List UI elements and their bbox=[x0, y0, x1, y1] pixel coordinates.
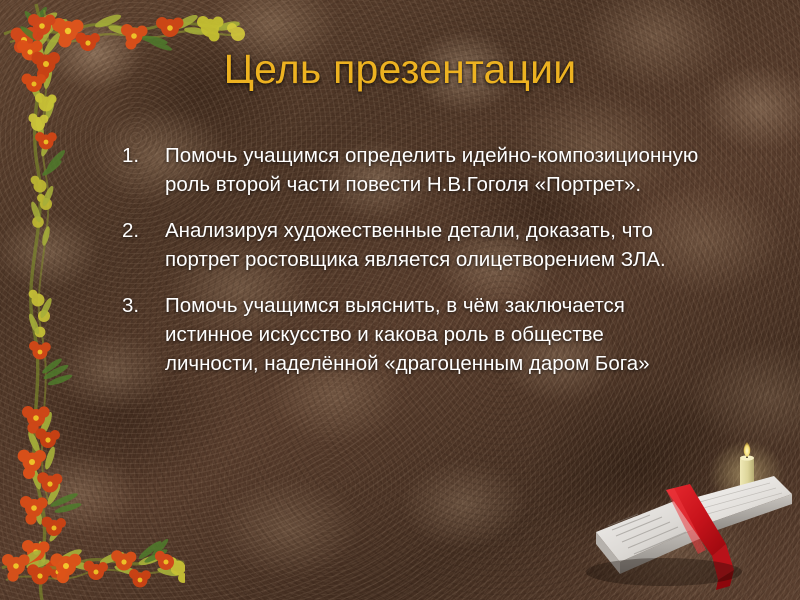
list-item-number: 3. bbox=[122, 291, 165, 320]
list-item-text: Анализируя художественные детали, доказа… bbox=[165, 216, 702, 274]
list-item-text: Помочь учащимся выяснить, в чём заключае… bbox=[165, 291, 702, 378]
bullet-list: 1. Помочь учащимся определить идейно-ком… bbox=[122, 141, 702, 378]
list-item: 1. Помочь учащимся определить идейно-ком… bbox=[122, 141, 702, 199]
candle-flame bbox=[744, 442, 751, 457]
presentation-slide: Цель презентации 1. Помочь учащимся опре… bbox=[0, 0, 800, 600]
candle-wick bbox=[746, 450, 748, 458]
floral-border-bottom bbox=[0, 528, 185, 600]
list-item: 2. Анализируя художественные детали, док… bbox=[122, 216, 702, 274]
book-left-page bbox=[596, 498, 706, 574]
list-item-number: 2. bbox=[122, 216, 165, 245]
candle-holder bbox=[734, 494, 760, 511]
candle-glow bbox=[708, 440, 784, 508]
bookmark-ribbon bbox=[666, 484, 734, 590]
candle-body bbox=[740, 458, 754, 500]
book-shadow bbox=[586, 558, 742, 586]
list-item-number: 1. bbox=[122, 141, 165, 170]
open-book-with-candle-illustration bbox=[578, 440, 798, 600]
list-item: 3. Помочь учащимся выяснить, в чём заклю… bbox=[122, 291, 702, 378]
slide-title: Цель презентации bbox=[0, 46, 800, 93]
list-item-text: Помочь учащимся определить идейно-композ… bbox=[165, 141, 702, 199]
book-right-page bbox=[686, 476, 792, 534]
